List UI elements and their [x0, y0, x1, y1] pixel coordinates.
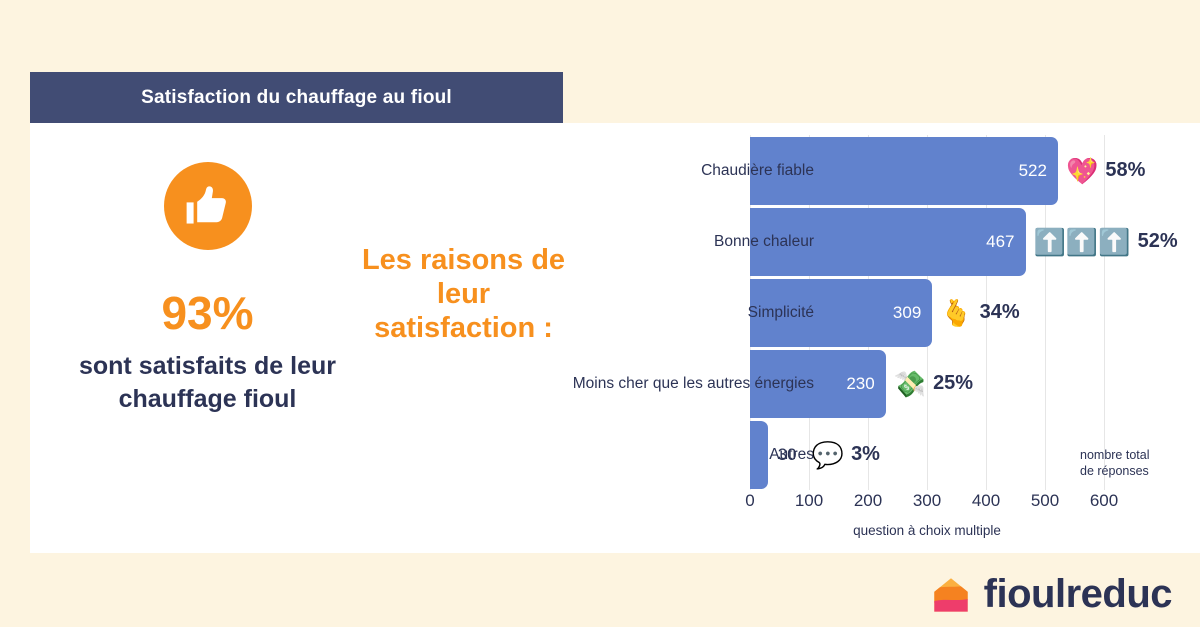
bar-annotation: 💸25% [894, 371, 973, 397]
x-tick-400: 400 [972, 491, 1000, 511]
brand-name: fioulreduc [984, 572, 1172, 617]
bar-value-label: 522 [1019, 161, 1058, 181]
bar-percent-label: 58% [1105, 159, 1145, 182]
brand-logo: fioulreduc [930, 572, 1172, 617]
x-tick-200: 200 [854, 491, 882, 511]
kpi-panel: 93% sont satisfaits de leur chauffage fi… [60, 150, 355, 416]
bar-annotation: 💖58% [1066, 158, 1145, 184]
bar-value-label: 467 [986, 232, 1025, 252]
x-tick-500: 500 [1031, 491, 1059, 511]
snapping-fingers-icon: 🫰 [940, 300, 972, 326]
total-responses-note: nombre total de réponses [1080, 447, 1149, 479]
x-tick-100: 100 [795, 491, 823, 511]
category-label-3: Simplicité [748, 304, 814, 322]
category-label-1: Chaudière fiable [701, 162, 814, 180]
kpi-percent: 93% [60, 290, 355, 336]
x-tick-0: 0 [745, 491, 754, 511]
speech-balloon-icon: 💬 [812, 442, 844, 468]
x-tick-300: 300 [913, 491, 941, 511]
bar-value-label: 309 [893, 303, 932, 323]
bar-percent-label: 34% [980, 301, 1020, 324]
category-label-4: Moins cher que les autres énergies [573, 375, 814, 393]
bar-percent-label: 52% [1138, 230, 1178, 253]
note-line-1: nombre total [1080, 447, 1149, 463]
category-label-2: Bonne chaleur [714, 233, 814, 251]
bar-percent-label: 3% [851, 443, 880, 466]
x-axis-ticks: 0100200300400500600 [750, 491, 1104, 517]
gridline-600 [1104, 135, 1105, 490]
bar-5[interactable] [750, 421, 768, 489]
bar-percent-label: 25% [933, 372, 973, 395]
bar-annotation: 💬3% [812, 442, 880, 468]
x-tick-600: 600 [1090, 491, 1118, 511]
x-axis-label: question à choix multiple [750, 523, 1104, 538]
thumbs-up-icon [164, 162, 252, 250]
kpi-caption: sont satisfaits de leur chauffage fioul [60, 350, 355, 416]
page-title: Satisfaction du chauffage au fioul [141, 87, 452, 109]
bar-annotation: 🫰34% [940, 300, 1019, 326]
category-label-5: Autres [769, 446, 814, 464]
note-line-2: de réponses [1080, 463, 1149, 479]
sparkling-heart-icon: 💖 [1066, 158, 1098, 184]
infographic-root: Satisfaction du chauffage au fioul 93% s… [0, 0, 1200, 627]
header-banner: Satisfaction du chauffage au fioul [30, 72, 563, 123]
bar-value-label: 230 [846, 374, 885, 394]
reasons-bar-chart: 522💖58%467⬆️⬆️⬆️52%309🫰34%230💸25%30💬3% 0… [440, 135, 1180, 535]
bar-annotation: ⬆️⬆️⬆️52% [1034, 229, 1178, 255]
euro-money-falling-icon: 💸 [894, 371, 926, 397]
triple-up-arrow-icon: ⬆️⬆️⬆️ [1034, 229, 1131, 255]
house-logo-icon [930, 574, 972, 616]
